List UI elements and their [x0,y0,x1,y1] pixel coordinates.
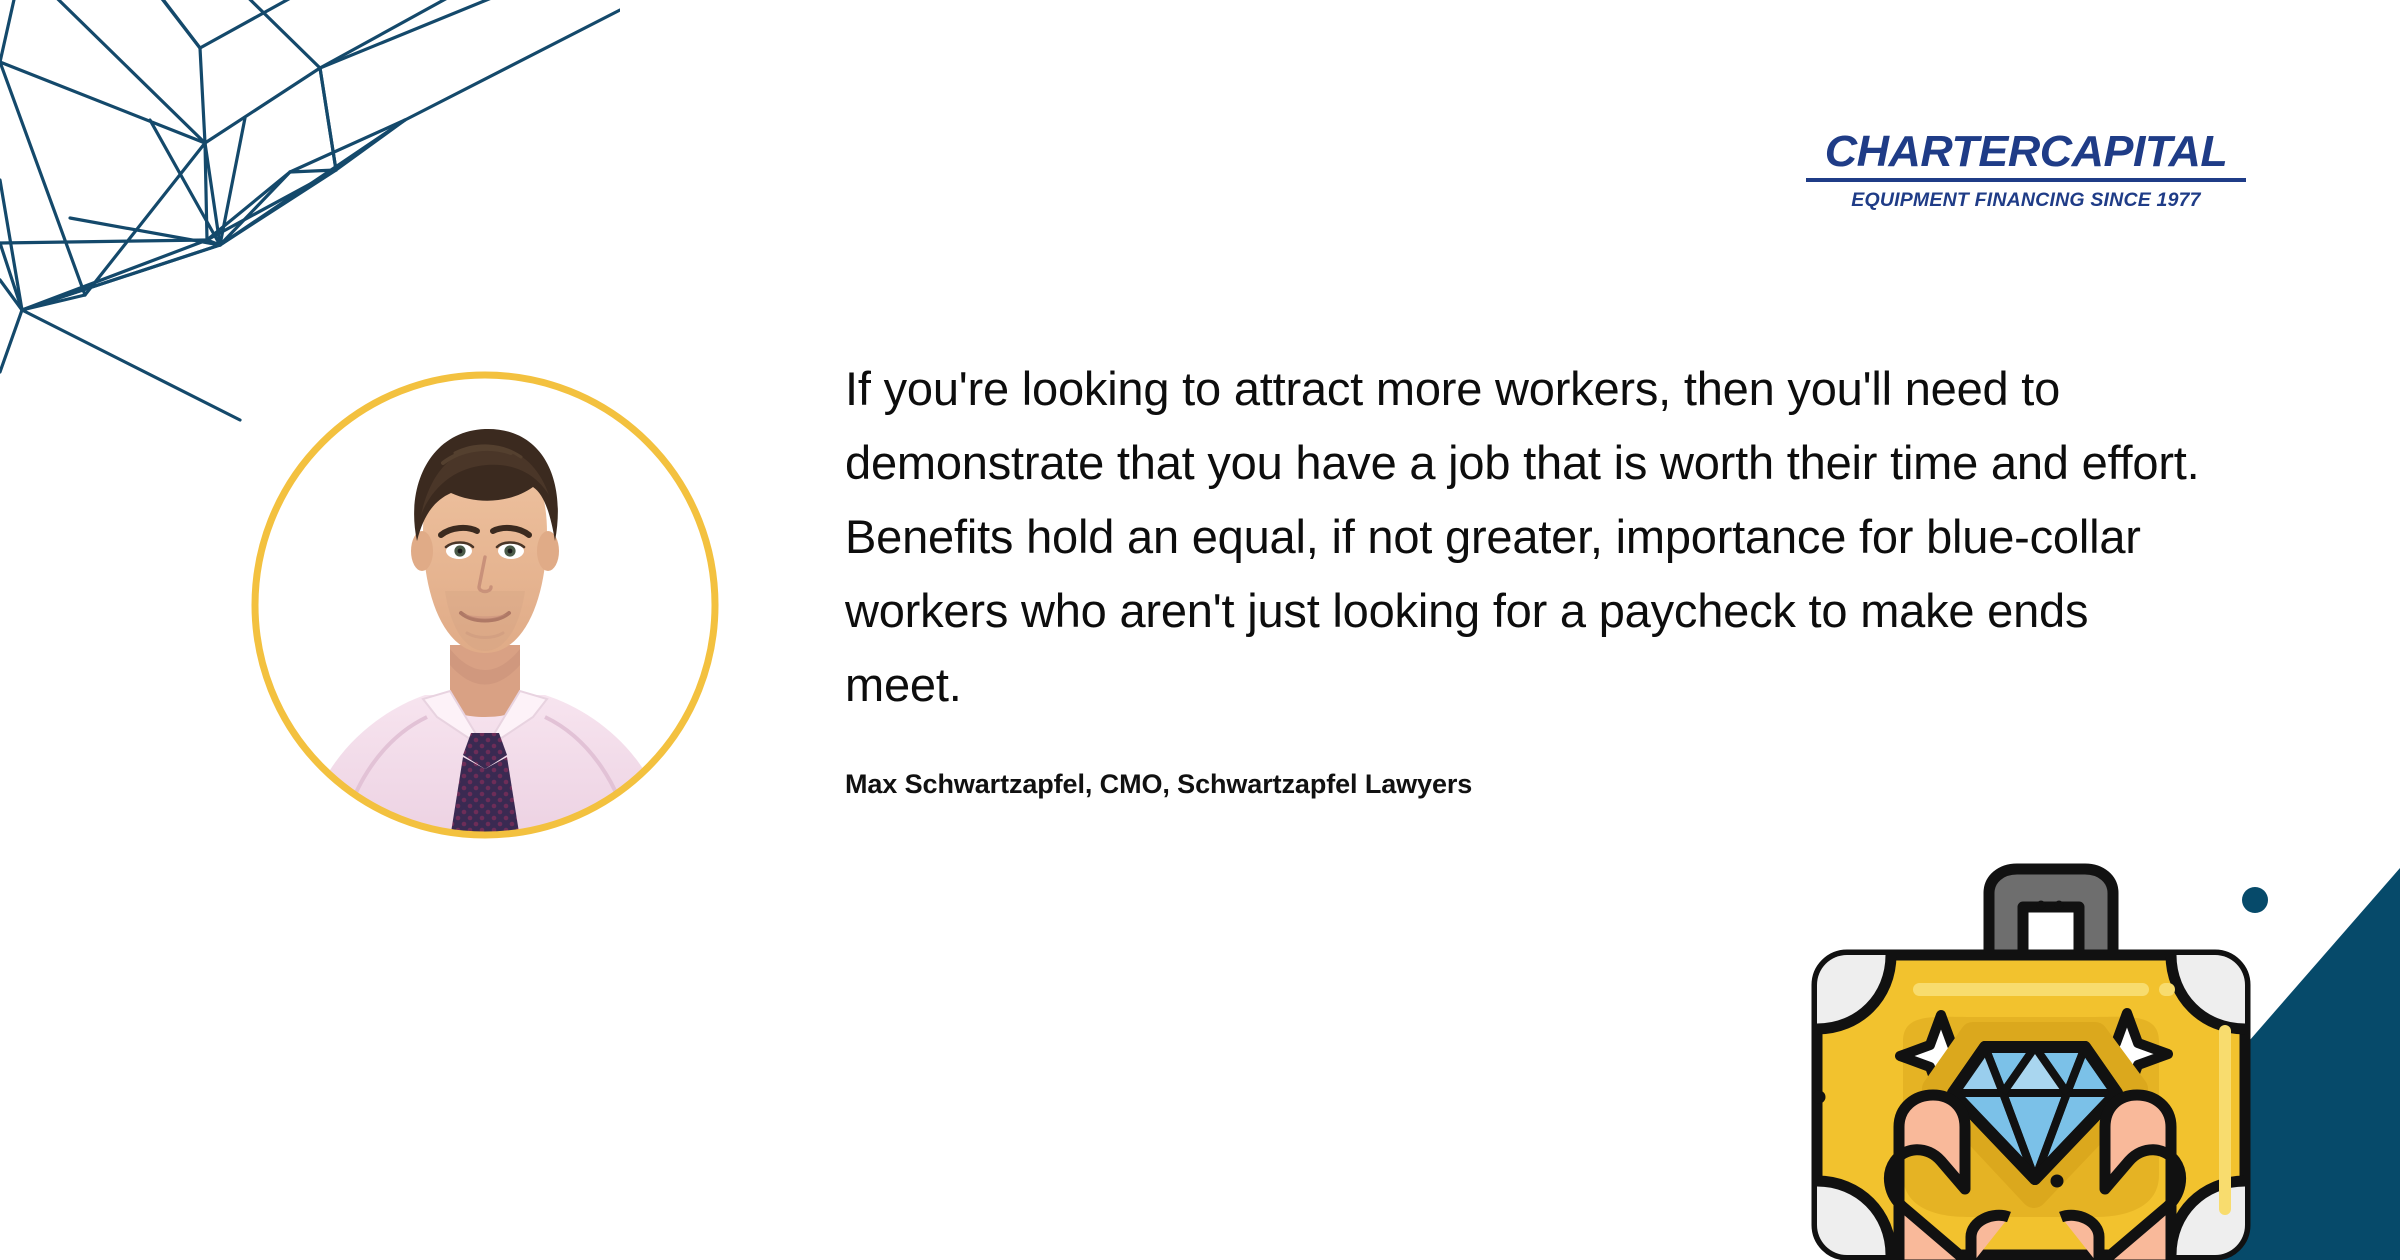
logo-tagline: EQUIPMENT FINANCING SINCE 1977 [1806,191,2246,211]
quote-text: If you're looking to attract more worker… [845,352,2205,722]
testimonial-block: If you're looking to attract more worker… [845,352,2205,800]
slide-canvas: CHARTERCAPITAL EQUIPMENT FINANCING SINCE… [0,0,2400,1260]
chartercapital-logo: CHARTERCAPITAL EQUIPMENT FINANCING SINCE… [1806,130,2246,211]
avatar [245,365,725,845]
speaker-portrait [245,365,725,845]
quote-attribution: Max Schwartzapfel, CMO, Schwartzapfel La… [845,769,2205,800]
briefcase-illustration [1795,845,2315,1260]
briefcase-with-diamond-held-by-hands-icon [1795,845,2315,1260]
case-edge-dot [1813,1091,1826,1104]
logo-underline-rule [1806,178,2246,182]
avatar-photo [245,365,725,845]
logo-wordmark: CHARTERCAPITAL [1802,130,2251,174]
